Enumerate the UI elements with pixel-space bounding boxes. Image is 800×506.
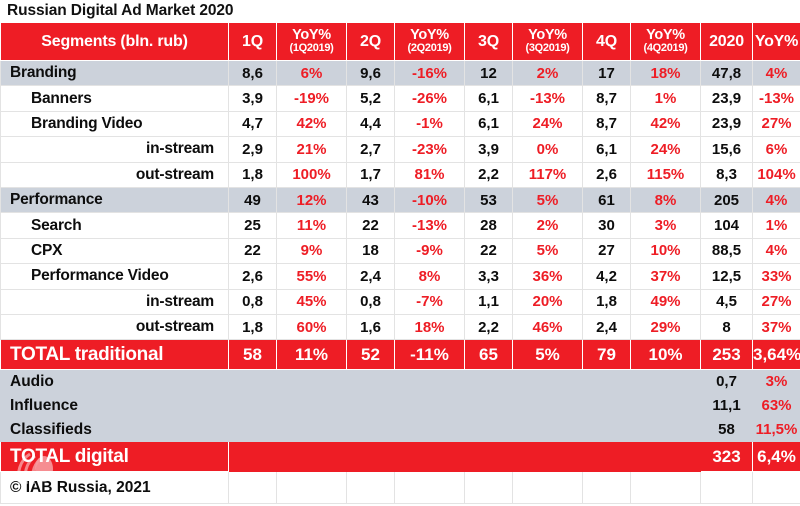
cell-q4: 17 [583,61,631,86]
cell-empty [277,442,347,472]
cell-q1: 2,9 [229,137,277,162]
cell-empty [347,472,395,504]
total-digital-year: 323 [701,442,753,472]
cell-yoy-year: 104% [753,162,800,187]
total-traditional-q3: 65 [465,340,513,370]
total-traditional-yoy2: -11% [395,340,465,370]
row-label: Branding [1,61,229,86]
cell-empty [229,472,277,504]
total-traditional-year: 253 [701,340,753,370]
cell-q4: 2,4 [583,314,631,339]
cell-yoy3: 20% [513,289,583,314]
cell-q3: 6,1 [465,111,513,136]
cell-empty [277,472,347,504]
cell-empty [631,370,701,394]
header-yoy-2q-sub: (2Q2019) [395,42,464,55]
cell-yoy1: 11% [277,213,347,238]
total-digital-yoy-year: 6,4% [753,442,800,472]
cell-empty [277,418,347,442]
row-label: CPX [1,238,229,263]
cell-empty [465,370,513,394]
page-title: Russian Digital Ad Market 2020 [0,0,800,22]
cell-year: 15,6 [701,137,753,162]
row-label: Influence [1,394,229,418]
cell-yoy4: 115% [631,162,701,187]
cell-empty [347,370,395,394]
table-row: out-stream1,8100%1,781%2,2117%2,6115%8,3… [1,162,800,187]
cell-empty [631,472,701,504]
cell-empty [513,442,583,472]
table-row: out-stream1,860%1,618%2,246%2,429%837% [1,314,800,339]
table-row: Influence11,163% [1,394,800,418]
row-label: out-stream [1,162,229,187]
cell-empty [395,442,465,472]
cell-year: 23,9 [701,86,753,111]
total-traditional-q1: 58 [229,340,277,370]
cell-q1: 49 [229,187,277,212]
cell-yoy1: 55% [277,264,347,289]
table-row: Search2511%22-13%282%303%1041% [1,213,800,238]
cell-q3: 1,1 [465,289,513,314]
cell-q4: 61 [583,187,631,212]
cell-yoy4: 3% [631,213,701,238]
cell-year: 58 [701,418,753,442]
cell-yoy4: 10% [631,238,701,263]
cell-empty [753,472,800,504]
cell-yoy2: 18% [395,314,465,339]
row-label: Banners [1,86,229,111]
cell-year: 12,5 [701,264,753,289]
cell-yoy3: 36% [513,264,583,289]
cell-yoy2: -16% [395,61,465,86]
cell-empty [583,472,631,504]
cell-empty [631,394,701,418]
cell-yoy-year: 4% [753,238,800,263]
cell-empty [395,370,465,394]
cell-yoy2: 81% [395,162,465,187]
header-year: 2020 [701,23,753,61]
table-row: in-stream0,845%0,8-7%1,120%1,849%4,527% [1,289,800,314]
row-label: Performance [1,187,229,212]
cell-q4: 1,8 [583,289,631,314]
header-segments: Segments (bln. rub) [1,23,229,61]
cell-yoy2: -23% [395,137,465,162]
total-traditional-yoy1: 11% [277,340,347,370]
cell-yoy1: 12% [277,187,347,212]
cell-empty [513,370,583,394]
cell-empty [347,442,395,472]
cell-q4: 8,7 [583,111,631,136]
cell-year: 0,7 [701,370,753,394]
row-label: Classifieds [1,418,229,442]
cell-q4: 2,6 [583,162,631,187]
header-q3: 3Q [465,23,513,61]
cell-yoy4: 37% [631,264,701,289]
cell-yoy3: 5% [513,187,583,212]
cell-yoy4: 1% [631,86,701,111]
cell-yoy-year: 63% [753,394,800,418]
cell-yoy3: 46% [513,314,583,339]
total-traditional-q4: 79 [583,340,631,370]
header-q1: 1Q [229,23,277,61]
header-q4: 4Q [583,23,631,61]
header-yoy-year: YoY% [753,23,800,61]
cell-year: 104 [701,213,753,238]
cell-q1: 22 [229,238,277,263]
row-label: out-stream [1,314,229,339]
total-digital-label: TOTAL digital [1,442,229,472]
header-yoy-3q-main: YoY% [513,28,582,42]
cell-year: 47,8 [701,61,753,86]
cell-q2: 2,4 [347,264,395,289]
row-label: Search [1,213,229,238]
cell-q3: 2,2 [465,314,513,339]
table-body: Branding8,66%9,6-16%122%1718%47,84%Banne… [1,61,800,504]
row-label: Audio [1,370,229,394]
cell-yoy-year: 4% [753,187,800,212]
header-q2: 2Q [347,23,395,61]
cell-q3: 3,9 [465,137,513,162]
cell-yoy-year: 6% [753,137,800,162]
cell-yoy-year: 1% [753,213,800,238]
table-row: Performance4912%43-10%535%618%2054% [1,187,800,212]
cell-yoy1: 6% [277,61,347,86]
table-row: CPX229%18-9%225%2710%88,54% [1,238,800,263]
row-label: Performance Video [1,264,229,289]
cell-yoy3: 5% [513,238,583,263]
cell-yoy1: 42% [277,111,347,136]
cell-q2: 5,2 [347,86,395,111]
table-row: Banners3,9-19%5,2-26%6,1-13%8,71%23,9-13… [1,86,800,111]
cell-empty [583,370,631,394]
cell-q3: 22 [465,238,513,263]
cell-yoy-year: -13% [753,86,800,111]
slide-canvas: Russian Digital Ad Market 2020 Segments … [0,0,800,506]
total-traditional-yoy3: 5% [513,340,583,370]
ad-market-table: Segments (bln. rub) 1Q YoY% (1Q2019) 2Q … [0,22,800,504]
cell-yoy1: 21% [277,137,347,162]
cell-q4: 27 [583,238,631,263]
cell-q4: 6,1 [583,137,631,162]
cell-yoy4: 49% [631,289,701,314]
cell-q4: 8,7 [583,86,631,111]
cell-yoy-year: 27% [753,289,800,314]
table-header-row: Segments (bln. rub) 1Q YoY% (1Q2019) 2Q … [1,23,800,61]
cell-q3: 53 [465,187,513,212]
cell-yoy-year: 4% [753,61,800,86]
header-yoy-4q-sub: (4Q2019) [631,42,700,55]
cell-yoy4: 29% [631,314,701,339]
cell-q1: 25 [229,213,277,238]
cell-yoy3: 2% [513,61,583,86]
total-traditional-q2: 52 [347,340,395,370]
cell-q1: 3,9 [229,86,277,111]
total-traditional-yoy-year: 3,64% [753,340,800,370]
cell-empty [465,418,513,442]
cell-yoy-year: 27% [753,111,800,136]
cell-q4: 30 [583,213,631,238]
cell-year: 205 [701,187,753,212]
cell-empty [277,394,347,418]
cell-empty [583,418,631,442]
cell-empty [347,394,395,418]
cell-year: 88,5 [701,238,753,263]
cell-empty [513,418,583,442]
cell-yoy1: -19% [277,86,347,111]
cell-empty [465,472,513,504]
cell-empty [465,394,513,418]
header-yoy-1q-sub: (1Q2019) [277,42,346,55]
cell-yoy2: 8% [395,264,465,289]
cell-empty [631,418,701,442]
cell-q1: 8,6 [229,61,277,86]
cell-yoy1: 100% [277,162,347,187]
cell-yoy4: 24% [631,137,701,162]
cell-empty [229,442,277,472]
cell-yoy3: 24% [513,111,583,136]
cell-empty [395,418,465,442]
cell-empty [277,370,347,394]
cell-q3: 2,2 [465,162,513,187]
cell-empty [583,442,631,472]
table-row: Branding Video4,742%4,4-1%6,124%8,742%23… [1,111,800,136]
table-row: Audio0,73% [1,370,800,394]
cell-yoy1: 60% [277,314,347,339]
cell-yoy2: -10% [395,187,465,212]
header-yoy-4q-main: YoY% [631,28,700,42]
cell-yoy3: 0% [513,137,583,162]
cell-q3: 3,3 [465,264,513,289]
cell-yoy2: -1% [395,111,465,136]
row-label: Branding Video [1,111,229,136]
cell-q2: 1,6 [347,314,395,339]
cell-yoy2: -26% [395,86,465,111]
row-label: in-stream [1,137,229,162]
copyright-label: © IAB Russia, 2021 [1,472,229,504]
cell-q3: 28 [465,213,513,238]
cell-q2: 0,8 [347,289,395,314]
cell-q3: 6,1 [465,86,513,111]
cell-q2: 1,7 [347,162,395,187]
cell-empty [701,472,753,504]
cell-empty [513,472,583,504]
cell-yoy-year: 11,5% [753,418,800,442]
cell-q3: 12 [465,61,513,86]
cell-yoy-year: 37% [753,314,800,339]
cell-q4: 4,2 [583,264,631,289]
table-row: Performance Video2,655%2,48%3,336%4,237%… [1,264,800,289]
cell-q2: 43 [347,187,395,212]
cell-year: 23,9 [701,111,753,136]
cell-yoy2: -9% [395,238,465,263]
cell-yoy3: -13% [513,86,583,111]
table-row: Branding8,66%9,6-16%122%1718%47,84% [1,61,800,86]
row-label: in-stream [1,289,229,314]
cell-yoy4: 18% [631,61,701,86]
cell-year: 4,5 [701,289,753,314]
cell-q1: 0,8 [229,289,277,314]
cell-empty [229,418,277,442]
cell-yoy4: 42% [631,111,701,136]
cell-q2: 4,4 [347,111,395,136]
cell-empty [229,370,277,394]
cell-empty [465,442,513,472]
cell-empty [395,472,465,504]
cell-yoy-year: 33% [753,264,800,289]
header-yoy-1q-main: YoY% [277,28,346,42]
cell-year: 8 [701,314,753,339]
cell-q1: 4,7 [229,111,277,136]
cell-q1: 1,8 [229,162,277,187]
cell-empty [229,394,277,418]
cell-empty [583,394,631,418]
header-yoy-3q-sub: (3Q2019) [513,42,582,55]
cell-empty [631,442,701,472]
header-yoy-2q: YoY% (2Q2019) [395,23,465,61]
header-yoy-1q: YoY% (1Q2019) [277,23,347,61]
cell-yoy1: 9% [277,238,347,263]
cell-yoy4: 8% [631,187,701,212]
total-traditional-row: TOTAL traditional5811%52-11%655%7910%253… [1,340,800,370]
cell-yoy3: 2% [513,213,583,238]
cell-yoy2: -13% [395,213,465,238]
total-traditional-yoy4: 10% [631,340,701,370]
header-yoy-3q: YoY% (3Q2019) [513,23,583,61]
cell-year: 11,1 [701,394,753,418]
cell-q1: 2,6 [229,264,277,289]
table-row: in-stream2,921%2,7-23%3,90%6,124%15,66% [1,137,800,162]
footer-row: © IAB Russia, 2021 [1,472,800,504]
total-traditional-label: TOTAL traditional [1,340,229,370]
cell-yoy2: -7% [395,289,465,314]
header-yoy-4q: YoY% (4Q2019) [631,23,701,61]
cell-q1: 1,8 [229,314,277,339]
cell-empty [395,394,465,418]
cell-empty [347,418,395,442]
cell-yoy-year: 3% [753,370,800,394]
cell-q2: 9,6 [347,61,395,86]
cell-q2: 18 [347,238,395,263]
table-row: Classifieds5811,5% [1,418,800,442]
cell-yoy1: 45% [277,289,347,314]
cell-year: 8,3 [701,162,753,187]
cell-q2: 22 [347,213,395,238]
header-yoy-2q-main: YoY% [395,28,464,42]
cell-q2: 2,7 [347,137,395,162]
cell-empty [513,394,583,418]
total-digital-row: TOTAL digital3236,4% [1,442,800,472]
cell-yoy3: 117% [513,162,583,187]
